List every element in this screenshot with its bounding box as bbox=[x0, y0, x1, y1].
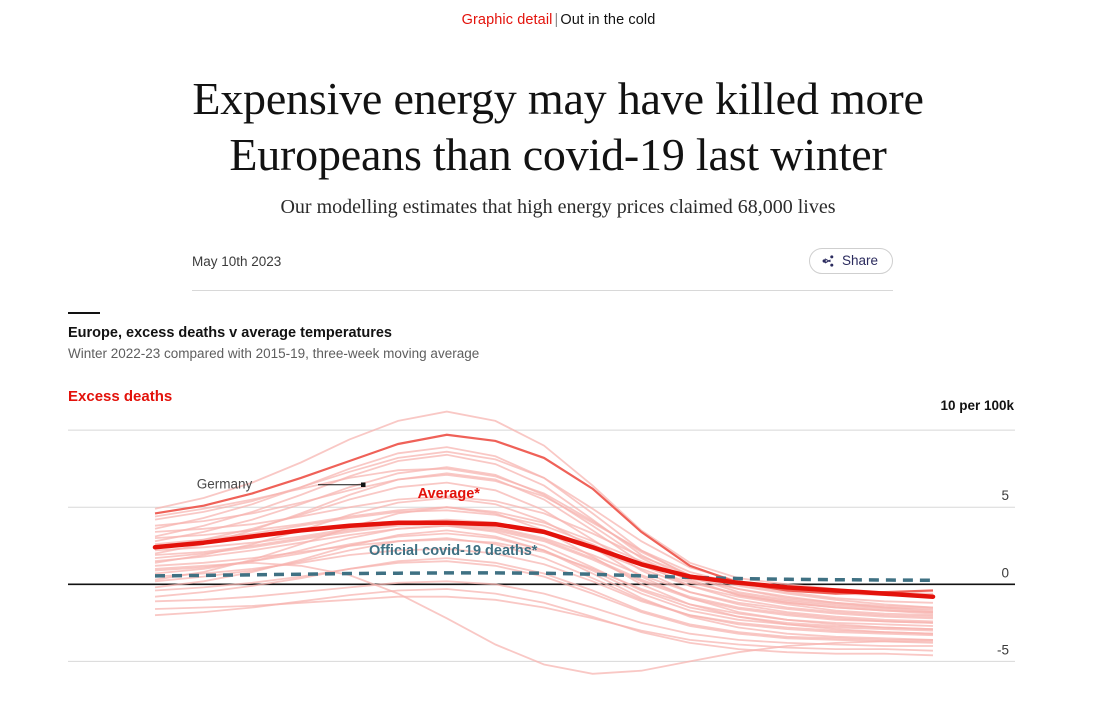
meta-divider bbox=[192, 290, 893, 291]
share-label: Share bbox=[842, 254, 878, 268]
chart-subtitle: Winter 2022-23 compared with 2015-19, th… bbox=[68, 346, 479, 361]
country-lines bbox=[155, 412, 933, 674]
chart-title: Europe, excess deaths v average temperat… bbox=[68, 325, 392, 341]
article-meta-row: May 10th 2023 Share bbox=[192, 248, 893, 278]
kicker-title: Out in the cold bbox=[560, 12, 655, 28]
standfirst: Our modelling estimates that high energy… bbox=[108, 194, 1008, 220]
kicker-section[interactable]: Graphic detail bbox=[462, 12, 553, 28]
average-line bbox=[155, 523, 933, 597]
kicker-separator: | bbox=[555, 12, 559, 28]
share-button[interactable]: Share bbox=[809, 248, 893, 274]
page-title: Expensive energy may have killed more Eu… bbox=[108, 71, 1008, 183]
y-tick-label: 0 bbox=[1001, 565, 1009, 580]
germany-label: Germany bbox=[197, 477, 253, 492]
chart-top-rule bbox=[68, 312, 100, 314]
covid-label: Official covid-19 deaths* bbox=[369, 543, 538, 559]
kicker: Graphic detail|Out in the cold bbox=[0, 12, 1117, 28]
highlight-lines bbox=[155, 435, 933, 597]
y-axis-ticks: 50-5 bbox=[997, 488, 1009, 657]
germany-leader-dot bbox=[361, 483, 366, 488]
y-tick-label: 5 bbox=[1001, 488, 1009, 503]
average-label: Average* bbox=[418, 486, 481, 502]
share-icon bbox=[821, 254, 835, 268]
chart-plot-area: 50-5 GermanyAverage*Official covid-19 de… bbox=[0, 400, 1117, 709]
article-page: Graphic detail|Out in the cold Expensive… bbox=[0, 0, 1117, 709]
y-tick-label: -5 bbox=[997, 642, 1009, 657]
excess-deaths-chart: 50-5 GermanyAverage*Official covid-19 de… bbox=[0, 400, 1117, 709]
publish-date: May 10th 2023 bbox=[192, 254, 281, 269]
